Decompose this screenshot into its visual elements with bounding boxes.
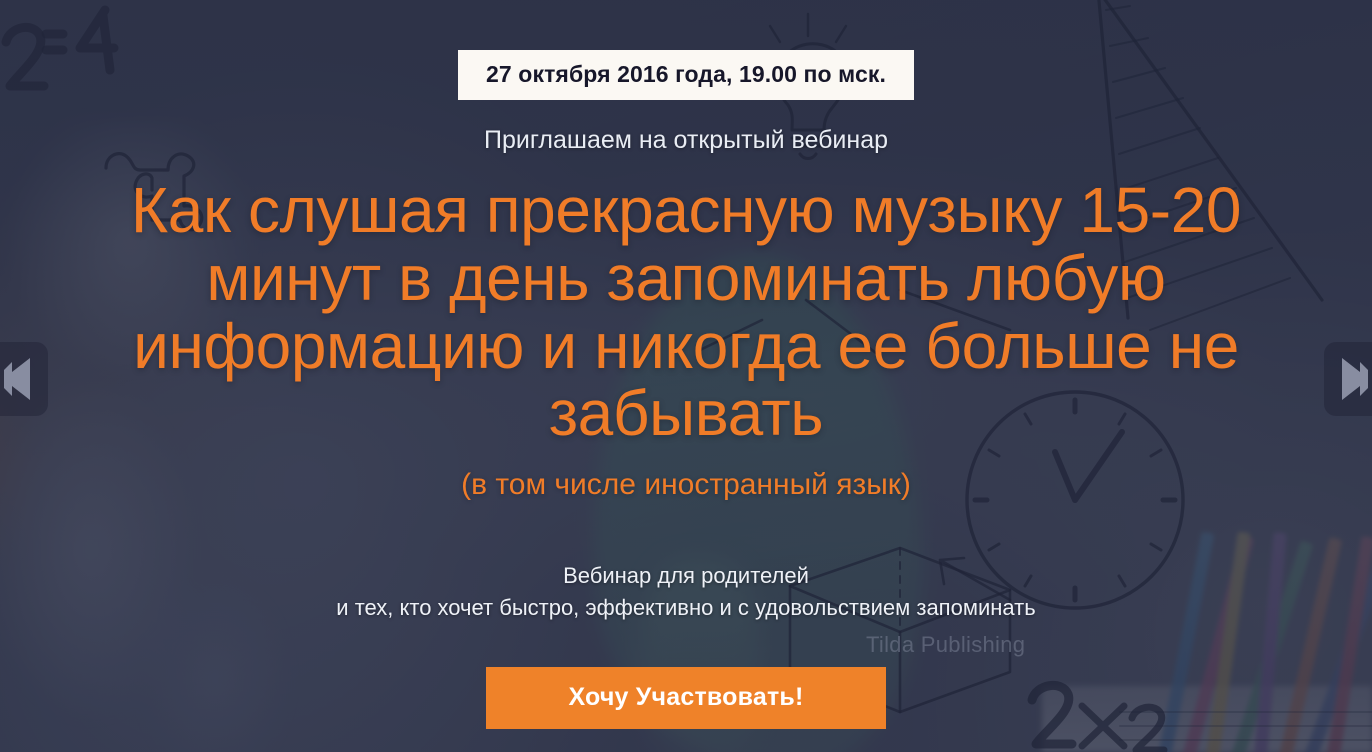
slider-next-button[interactable] (1324, 342, 1372, 416)
chevron-left-icon (2, 356, 32, 402)
audience-line-2: и тех, кто хочет быстро, эффективно и с … (336, 592, 1035, 623)
hero-content: 27 октября 2016 года, 19.00 по мск. Приг… (0, 0, 1372, 752)
audience-description: Вебинар для родителей и тех, кто хочет б… (336, 560, 1035, 622)
chevron-right-icon (1340, 356, 1370, 402)
headline-line-3: информацию и никогда ее больше не (133, 310, 1239, 382)
headline-parenthetical: (в том числе иностранный язык) (461, 468, 911, 502)
hero-slide: Tilda Publishing 27 октября 2016 года, 1… (0, 0, 1372, 752)
headline-line-2: минут в день запоминать любую (206, 242, 1165, 314)
headline-line-4: забывать (549, 377, 824, 449)
audience-line-1: Вебинар для родителей (336, 560, 1035, 591)
invite-line: Приглашаем на открытый вебинар (484, 126, 888, 155)
page-title: Как слушая прекрасную музыку 15-20 минут… (86, 177, 1286, 448)
register-button[interactable]: Хочу Участвовать! (486, 667, 886, 729)
headline-line-1: Как слушая прекрасную музыку 15-20 (131, 174, 1241, 246)
tilda-watermark: Tilda Publishing (866, 632, 1025, 658)
date-badge: 27 октября 2016 года, 19.00 по мск. (458, 50, 914, 100)
slider-prev-button[interactable] (0, 342, 48, 416)
